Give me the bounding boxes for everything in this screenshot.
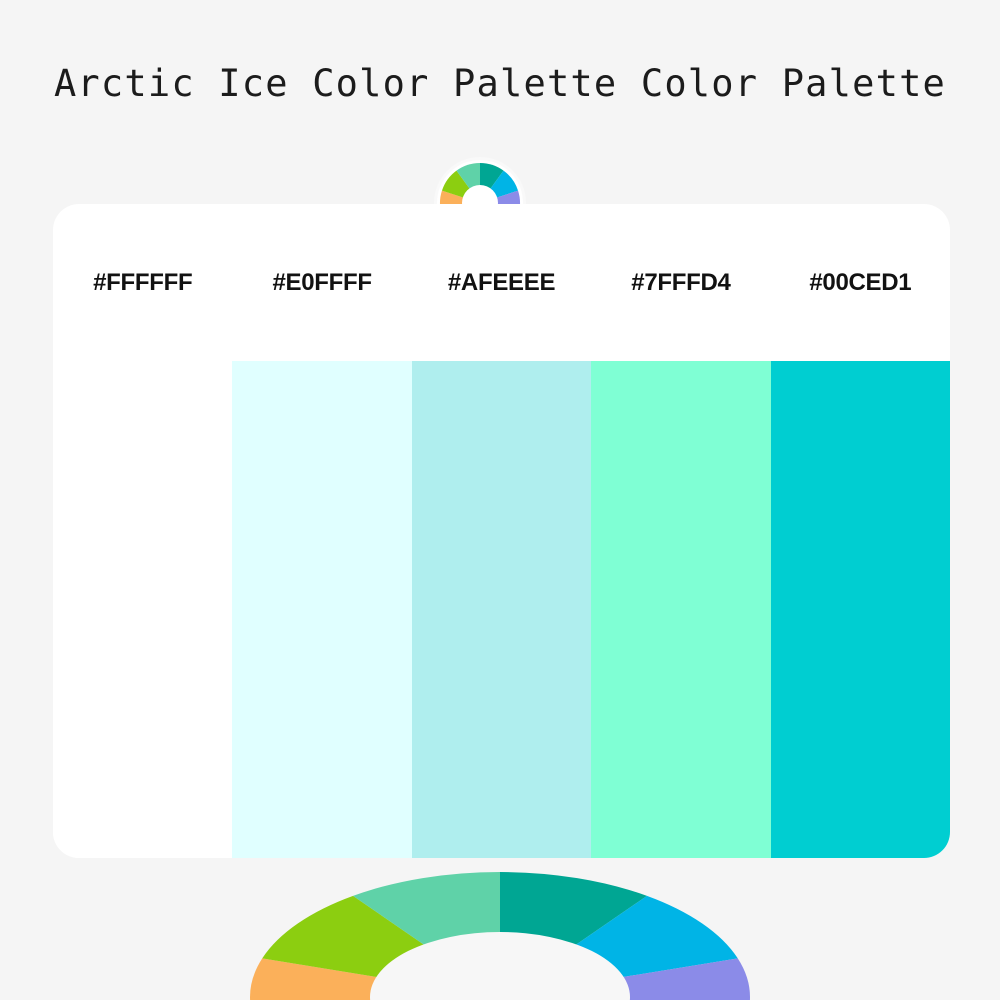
swatch-5[interactable]: [771, 361, 950, 858]
swatch-label-2: #E0FFFF: [232, 269, 411, 297]
page-title: Arctic Ice Color Palette Color Palette: [0, 62, 1000, 105]
swatch-label-4: #7FFFD4: [591, 269, 770, 297]
swatch-3[interactable]: [412, 361, 591, 858]
swatch-label-5: #00CED1: [771, 269, 950, 297]
color-wheel-icon-bottom: [250, 872, 750, 1000]
swatch-label-1: #FFFFFF: [53, 269, 232, 297]
swatch-label-row: #FFFFFF #E0FFFF #AFEEEE #7FFFD4 #00CED1: [53, 204, 950, 361]
swatch-bar-row: [53, 361, 950, 858]
swatch-2[interactable]: [232, 361, 411, 858]
swatch-4[interactable]: [591, 361, 770, 858]
palette-card: #FFFFFF #E0FFFF #AFEEEE #7FFFD4 #00CED1: [53, 204, 950, 858]
swatch-1[interactable]: [53, 361, 232, 858]
swatch-label-3: #AFEEEE: [412, 269, 591, 297]
palette-page: Arctic Ice Color Palette Color Palette: [0, 0, 1000, 1000]
